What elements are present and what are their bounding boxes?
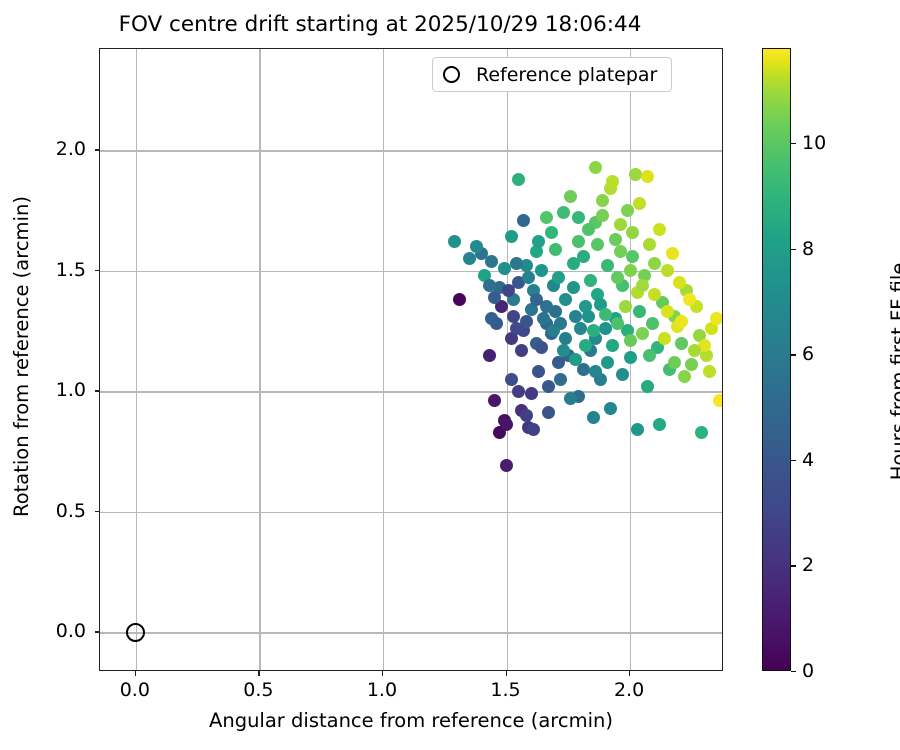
colorbar-tick-label: 2 (802, 554, 814, 576)
x-tick-label: 1.5 (490, 679, 520, 701)
y-tick-mark (95, 511, 100, 512)
colorbar: 0246810 (762, 48, 791, 671)
colorbar-tick-label: 10 (802, 132, 826, 154)
colorbar-tick-label: 6 (802, 343, 814, 365)
colorbar-gradient (762, 48, 791, 671)
colorbar-tick-mark (791, 460, 796, 461)
y-tick-mark (95, 631, 100, 632)
x-tick-mark (135, 671, 136, 676)
page-title: FOV centre drift starting at 2025/10/29 … (0, 12, 760, 37)
x-tick-label: 1.0 (367, 679, 397, 701)
colorbar-tick-mark (791, 354, 796, 355)
colorbar-tick-label: 8 (802, 238, 814, 260)
reference-platepar-marker (126, 623, 145, 642)
legend-open-circle-icon (443, 66, 460, 83)
colorbar-tick-mark (791, 671, 796, 672)
x-tick-label: 2.0 (614, 679, 644, 701)
plot-axes (99, 48, 723, 671)
y-tick-mark (95, 270, 100, 271)
colorbar-tick-mark (791, 565, 796, 566)
y-axis-label: Rotation from reference (arcmin) (10, 45, 33, 668)
legend: Reference platepar (432, 57, 672, 92)
colorbar-tick-mark (791, 143, 796, 144)
colorbar-label: Hours from first FF file (887, 60, 900, 683)
x-tick-mark (382, 671, 383, 676)
x-tick-mark (629, 671, 630, 676)
colorbar-tick-mark (791, 249, 796, 250)
x-axis-label: Angular distance from reference (arcmin) (99, 709, 723, 732)
x-tick-label: 0.0 (120, 679, 150, 701)
y-tick-mark (95, 149, 100, 150)
x-tick-mark (506, 671, 507, 676)
figure-canvas: FOV centre drift starting at 2025/10/29 … (0, 0, 900, 750)
x-tick-mark (258, 671, 259, 676)
x-tick-label: 0.5 (243, 679, 273, 701)
reference-marker-layer (100, 49, 722, 670)
y-tick-mark (95, 390, 100, 391)
colorbar-tick-label: 0 (802, 660, 814, 682)
colorbar-tick-label: 4 (802, 449, 814, 471)
legend-label: Reference platepar (476, 64, 657, 86)
